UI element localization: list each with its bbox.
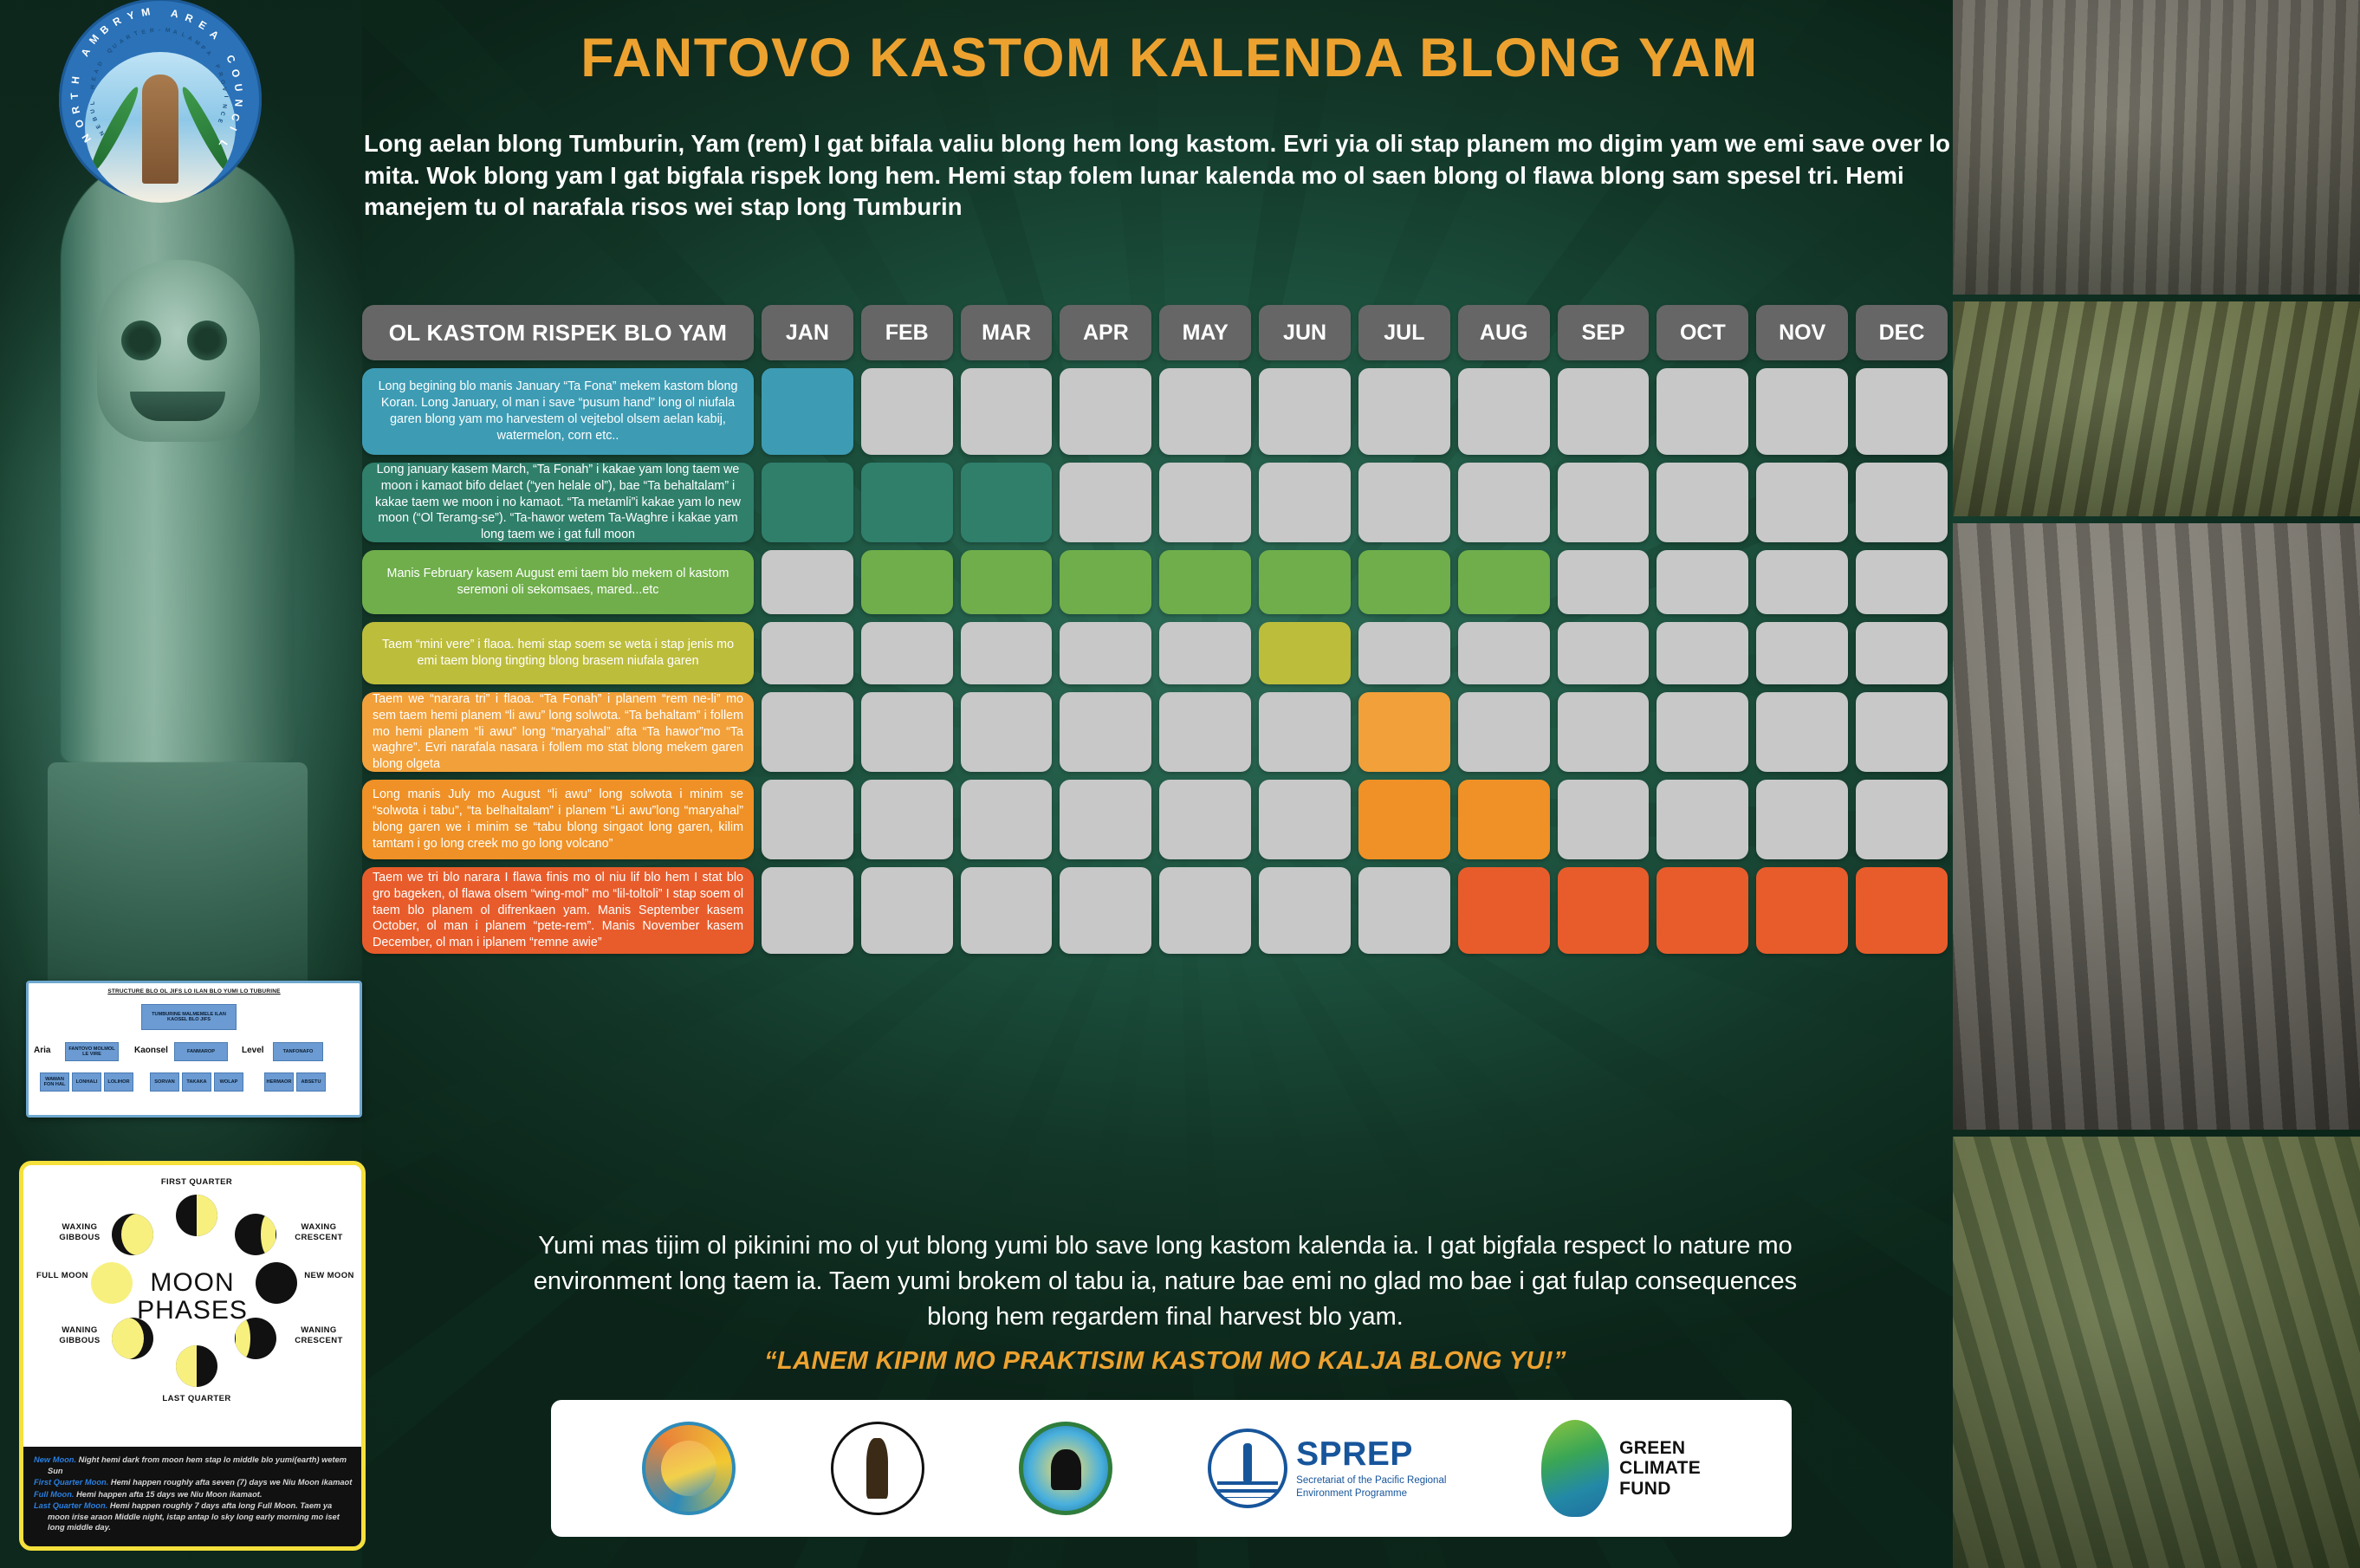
moon-label-waning-gibbous: WANING GIBBOUS: [42, 1325, 117, 1346]
slogan-text: “LANEM KIPIM MO PRAKTISIM KASTOM MO KALJ…: [511, 1347, 1819, 1376]
structure-leaf-1-1: WAWAN FON HAL: [40, 1072, 69, 1092]
calendar-cell-apr[interactable]: [1060, 867, 1151, 954]
moon-note-term-2: Full Moon.: [34, 1490, 74, 1499]
calendar-cell-feb[interactable]: [861, 692, 953, 772]
photo-yam-vines-bundled: [1953, 1137, 2360, 1568]
calendar-cell-dec[interactable]: [1856, 368, 1948, 455]
calendar-cell-jan[interactable]: [762, 368, 853, 455]
moon-label-last-quarter: LAST QUARTER: [127, 1394, 266, 1404]
calendar-cell-oct[interactable]: [1657, 550, 1748, 614]
moon-note-text-0: Night hemi dark from moon hem stap lo mi…: [48, 1455, 347, 1475]
calendar-row-description: Long january kasem March, “Ta Fonah” i k…: [362, 463, 754, 542]
calendar-row: Taem we tri blo narara I flawa finis mo …: [362, 867, 1948, 954]
calendar-cell-oct[interactable]: [1657, 780, 1748, 859]
vkip-logo-icon: [642, 1422, 736, 1515]
calendar-row-description: Taem “mini vere” i flaoa. hemi stap soem…: [362, 622, 754, 684]
sprep-subtitle-line2: Environment Programme: [1296, 1487, 1446, 1500]
calendar-cell-jan[interactable]: [762, 550, 853, 614]
vanuatu-klimate-information-project-logo: [642, 1422, 736, 1515]
structure-side-label-aria: Aria: [34, 1046, 50, 1055]
structure-leaf-1-2: LONHALI: [72, 1072, 101, 1092]
vmgd-logo-icon: [1019, 1422, 1112, 1515]
calendar-cell-aug[interactable]: [1458, 550, 1550, 614]
moon-note-0: New Moon. Night hemi dark from moon hem …: [34, 1455, 353, 1476]
moon-label-first-quarter: FIRST QUARTER: [127, 1177, 266, 1188]
vanuatu-crest-icon: [831, 1422, 924, 1515]
moon-note-text-2: Hemi happen afta 15 days we Niu Moon ika…: [74, 1490, 262, 1499]
calendar-cell-dec[interactable]: [1856, 463, 1948, 542]
moon-note-1: First Quarter Moon. Hemi happen roughly …: [34, 1477, 353, 1488]
calendar-cell-nov[interactable]: [1756, 780, 1848, 859]
moon-icon-waning-gibbous: [112, 1318, 153, 1359]
calendar-cell-sep[interactable]: [1558, 622, 1650, 684]
calendar-cell-sep[interactable]: [1558, 463, 1650, 542]
calendar-cell-jun[interactable]: [1259, 550, 1351, 614]
calendar-cell-apr[interactable]: [1060, 780, 1151, 859]
structure-leaf-2-3: WOLAP: [214, 1072, 243, 1092]
calendar-cell-jul[interactable]: [1358, 368, 1450, 455]
calendar-cell-mar[interactable]: [961, 780, 1053, 859]
calendar-cell-aug[interactable]: [1458, 463, 1550, 542]
calendar-cell-feb[interactable]: [861, 368, 953, 455]
moon-phases-card: MOON PHASES FIRST QUARTER WAXING GIBBOUS…: [19, 1161, 366, 1551]
calendar-cell-jan[interactable]: [762, 780, 853, 859]
calendar-cell-aug[interactable]: [1458, 780, 1550, 859]
moon-note-term-0: New Moon.: [34, 1455, 76, 1464]
calendar-cell-apr[interactable]: [1060, 622, 1151, 684]
calendar-cell-jun[interactable]: [1259, 463, 1351, 542]
calendar-cell-sep[interactable]: [1558, 867, 1650, 954]
calendar-row-description: Taem we “narara tri” i flaoa. “Ta Fonah”…: [362, 692, 754, 772]
month-header-nov: NOV: [1756, 305, 1848, 360]
calendar-cell-aug[interactable]: [1458, 622, 1550, 684]
calendar-cell-jun[interactable]: [1259, 368, 1351, 455]
structure-leaf-1-3: LOLIHOR: [104, 1072, 133, 1092]
month-header-jun: JUN: [1259, 305, 1351, 360]
sprep-name: SPREP: [1296, 1437, 1446, 1471]
calendar-cell-sep[interactable]: [1558, 692, 1650, 772]
month-header-sep: SEP: [1558, 305, 1650, 360]
month-header-apr: APR: [1060, 305, 1151, 360]
moon-icon-waning-crescent: [235, 1318, 276, 1359]
calendar-cell-jun[interactable]: [1259, 780, 1351, 859]
calendar-row-description: Manis February kasem August emi taem blo…: [362, 550, 754, 614]
partner-logos-bar: SPREP Secretariat of the Pacific Regiona…: [551, 1400, 1792, 1537]
tam-tam-mouth: [130, 392, 225, 421]
calendar-cell-apr[interactable]: [1060, 550, 1151, 614]
calendar-cell-jan[interactable]: [762, 867, 853, 954]
calendar-cell-apr[interactable]: [1060, 368, 1151, 455]
moon-icon-full-moon: [91, 1262, 133, 1304]
calendar-cell-nov[interactable]: [1756, 867, 1848, 954]
calendar-cell-nov[interactable]: [1756, 550, 1848, 614]
month-header-jan: JAN: [762, 305, 853, 360]
month-header-jul: JUL: [1358, 305, 1450, 360]
moon-note-3: Last Quarter Moon. Hemi happen roughly 7…: [34, 1500, 353, 1533]
calendar-cell-oct[interactable]: [1657, 368, 1748, 455]
calendar-cell-sep[interactable]: [1558, 368, 1650, 455]
page-title: FANTOVO KASTOM KALENDA BLONG YAM: [364, 31, 1975, 86]
calendar-cell-mar[interactable]: [961, 550, 1053, 614]
calendar-cell-dec[interactable]: [1856, 550, 1948, 614]
structure-leaf-2-2: TAKAKA: [182, 1072, 211, 1092]
calendar-cell-mar[interactable]: [961, 463, 1053, 542]
calendar-cell-jul[interactable]: [1358, 550, 1450, 614]
moon-icon-last-quarter: [176, 1345, 217, 1387]
structure-leaf-3-2: ABSETU: [296, 1072, 326, 1092]
moon-phases-diagram: MOON PHASES FIRST QUARTER WAXING GIBBOUS…: [23, 1165, 361, 1447]
moon-label-waning-crescent: WANING CRESCENT: [276, 1325, 361, 1346]
calendar-cell-aug[interactable]: [1458, 368, 1550, 455]
calendar-cell-jun[interactable]: [1259, 622, 1351, 684]
calendar-cell-apr[interactable]: [1060, 692, 1151, 772]
intro-paragraph: Long aelan blong Tumburin, Yam (rem) I g…: [364, 128, 1971, 224]
calendar-cell-mar[interactable]: [961, 368, 1053, 455]
chief-structure-diagram: STRUCTURE BLO OL JIFS LO ILAN BLO YUMI L…: [26, 981, 362, 1118]
calendar-cell-mar[interactable]: [961, 867, 1053, 954]
green-climate-fund-logo: GREEN CLIMATE FUND: [1541, 1420, 1701, 1517]
month-header-dec: DEC: [1856, 305, 1948, 360]
moon-label-new-moon: NEW MOON: [299, 1271, 360, 1281]
moon-icon-new-moon: [256, 1262, 297, 1304]
calendar-cell-may[interactable]: [1159, 622, 1251, 684]
calendar-cell-oct[interactable]: [1657, 692, 1748, 772]
calendar-cell-nov[interactable]: [1756, 368, 1848, 455]
calendar-cell-nov[interactable]: [1756, 463, 1848, 542]
calendar-row: Manis February kasem August emi taem blo…: [362, 550, 1948, 614]
photo-yams-on-grass: [1953, 301, 2360, 516]
calendar-row-description: Taem we tri blo narara I flawa finis mo …: [362, 867, 754, 954]
north-ambrym-area-council-logo: NORTH AMBRYM AREA COUNCILNEBUL HEAD QUAR…: [59, 26, 262, 173]
calendar-cell-jan[interactable]: [762, 622, 853, 684]
tam-tam-eye-left: [121, 321, 161, 360]
moon-icon-first-quarter: [176, 1195, 217, 1236]
moon-note-text-1: Hemi happen roughly afta seven (7) days …: [108, 1478, 352, 1487]
month-header-mar: MAR: [961, 305, 1053, 360]
structure-side-label-level: Level: [242, 1046, 264, 1055]
calendar-cell-aug[interactable]: [1458, 867, 1550, 954]
gcf-line3: FUND: [1619, 1479, 1701, 1500]
calendar-cell-may[interactable]: [1159, 692, 1251, 772]
moon-note-term-3: Last Quarter Moon.: [34, 1501, 107, 1510]
month-header-may: MAY: [1159, 305, 1251, 360]
calendar-cell-jul[interactable]: [1358, 867, 1450, 954]
calendar-row: Long january kasem March, “Ta Fonah” i k…: [362, 463, 1948, 542]
structure-root-node: TUMBURINE MALMEMELE ILAN KAOSEL BLO JIFS: [141, 1004, 237, 1030]
moon-icon-waxing-crescent: [235, 1214, 276, 1255]
moon-icon-waxing-gibbous: [112, 1214, 153, 1255]
calendar-row-header-label: OL KASTOM RISPEK BLO YAM: [362, 305, 754, 360]
calendar-cell-dec[interactable]: [1856, 692, 1948, 772]
calendar-row: Long manis July mo August “li awu” long …: [362, 780, 1948, 859]
calendar-cell-nov[interactable]: [1756, 692, 1848, 772]
calendar-table: OL KASTOM RISPEK BLO YAM JAN FEB MAR APR…: [362, 305, 1948, 962]
moon-note-term-1: First Quarter Moon.: [34, 1478, 108, 1487]
calendar-row-description: Long begining blo manis January “Ta Fona…: [362, 368, 754, 455]
moon-note-2: Full Moon. Hemi happen afta 15 days we N…: [34, 1489, 353, 1500]
tam-tam-eye-right: [187, 321, 227, 360]
calendar-cell-sep[interactable]: [1558, 780, 1650, 859]
calendar-cell-may[interactable]: [1159, 463, 1251, 542]
sprep-logo-icon: [1208, 1429, 1287, 1508]
calendar-cell-jul[interactable]: [1358, 692, 1450, 772]
month-header-feb: FEB: [861, 305, 953, 360]
calendar-cell-oct[interactable]: [1657, 622, 1748, 684]
calendar-cell-may[interactable]: [1159, 550, 1251, 614]
photo-yams-hanging-on-rack: [1953, 523, 2360, 1130]
structure-diagram-title: STRUCTURE BLO OL JIFS LO ILAN BLO YUMI L…: [36, 988, 353, 995]
calendar-cell-jul[interactable]: [1358, 780, 1450, 859]
moon-label-full-moon: FULL MOON: [36, 1271, 89, 1281]
calendar-cell-feb[interactable]: [861, 550, 953, 614]
calendar-cell-jul[interactable]: [1358, 463, 1450, 542]
photo-harvested-yams-stacked: [1953, 0, 2360, 295]
structure-leaf-3-1: HERMAOR: [264, 1072, 294, 1092]
calendar-cell-jan[interactable]: [762, 692, 853, 772]
gcf-line2: CLIMATE: [1619, 1458, 1701, 1479]
calendar-cell-dec[interactable]: [1856, 622, 1948, 684]
sprep-subtitle-line1: Secretariat of the Pacific Regional: [1296, 1474, 1446, 1487]
calendar-cell-aug[interactable]: [1458, 692, 1550, 772]
calendar-cell-feb[interactable]: [861, 622, 953, 684]
calendar-cell-mar[interactable]: [961, 692, 1053, 772]
moon-label-waxing-gibbous: WAXING GIBBOUS: [42, 1222, 117, 1243]
structure-side-label-kaonsel: Kaonsel: [134, 1046, 168, 1055]
sprep-subtitle: Secretariat of the Pacific Regional Envi…: [1296, 1474, 1446, 1499]
closing-paragraph: Yumi mas tijim ol pikinini mo ol yut blo…: [511, 1228, 1819, 1336]
calendar-body: Long begining blo manis January “Ta Fona…: [362, 368, 1948, 954]
moon-label-waxing-crescent: WAXING CRESCENT: [276, 1222, 361, 1243]
structure-branch-parent-3: TANFONAFO: [273, 1042, 323, 1061]
calendar-cell-feb[interactable]: [861, 780, 953, 859]
gcf-logo-icon: [1541, 1420, 1609, 1517]
gcf-logo-text: GREEN CLIMATE FUND: [1619, 1438, 1701, 1500]
sprep-logo: SPREP Secretariat of the Pacific Regiona…: [1208, 1429, 1446, 1508]
calendar-header-row: OL KASTOM RISPEK BLO YAM JAN FEB MAR APR…: [362, 305, 1948, 360]
gcf-line1: GREEN: [1619, 1438, 1701, 1459]
structure-branch-parent-2: FANMAROP: [174, 1042, 228, 1061]
calendar-row: Taem “mini vere” i flaoa. hemi stap soem…: [362, 622, 1948, 684]
calendar-cell-nov[interactable]: [1756, 622, 1848, 684]
calendar-row-description: Long manis July mo August “li awu” long …: [362, 780, 754, 859]
vanuatu-meteorology-geohazards-logo: [1019, 1422, 1112, 1515]
calendar-cell-jul[interactable]: [1358, 622, 1450, 684]
council-logo-ring-text: NORTH AMBRYM AREA COUNCILNEBUL HEAD QUAR…: [59, 26, 262, 173]
calendar-cell-dec[interactable]: [1856, 867, 1948, 954]
calendar-cell-jun[interactable]: [1259, 867, 1351, 954]
vanuatu-government-crest-logo: [831, 1422, 924, 1515]
calendar-cell-sep[interactable]: [1558, 550, 1650, 614]
photo-strip: [1953, 0, 2360, 1568]
poster-root: STRUCTURE BLO OL JIFS LO ILAN BLO YUMI L…: [0, 0, 2360, 1568]
structure-leaf-2-1: SORVAN: [150, 1072, 179, 1092]
calendar-cell-apr[interactable]: [1060, 463, 1151, 542]
structure-branch-parent-1: FANTOVO MOLMOL LE VIRE: [65, 1042, 119, 1061]
calendar-cell-feb[interactable]: [861, 867, 953, 954]
calendar-row: Long begining blo manis January “Ta Fona…: [362, 368, 1948, 455]
calendar-cell-may[interactable]: [1159, 867, 1251, 954]
moon-phases-title-line2: PHASES: [23, 1297, 361, 1325]
calendar-cell-jun[interactable]: [1259, 692, 1351, 772]
sprep-logo-text: SPREP Secretariat of the Pacific Regiona…: [1296, 1437, 1446, 1499]
calendar-cell-mar[interactable]: [961, 622, 1053, 684]
calendar-cell-oct[interactable]: [1657, 867, 1748, 954]
calendar-cell-dec[interactable]: [1856, 780, 1948, 859]
month-header-oct: OCT: [1657, 305, 1748, 360]
calendar-cell-jan[interactable]: [762, 463, 853, 542]
calendar-cell-may[interactable]: [1159, 368, 1251, 455]
calendar-cell-may[interactable]: [1159, 780, 1251, 859]
calendar-cell-feb[interactable]: [861, 463, 953, 542]
calendar-row: Taem we “narara tri” i flaoa. “Ta Fonah”…: [362, 692, 1948, 772]
moon-phases-notes: New Moon. Night hemi dark from moon hem …: [23, 1447, 361, 1551]
calendar-cell-oct[interactable]: [1657, 463, 1748, 542]
tam-tam-carving: [61, 156, 295, 762]
month-header-aug: AUG: [1458, 305, 1550, 360]
